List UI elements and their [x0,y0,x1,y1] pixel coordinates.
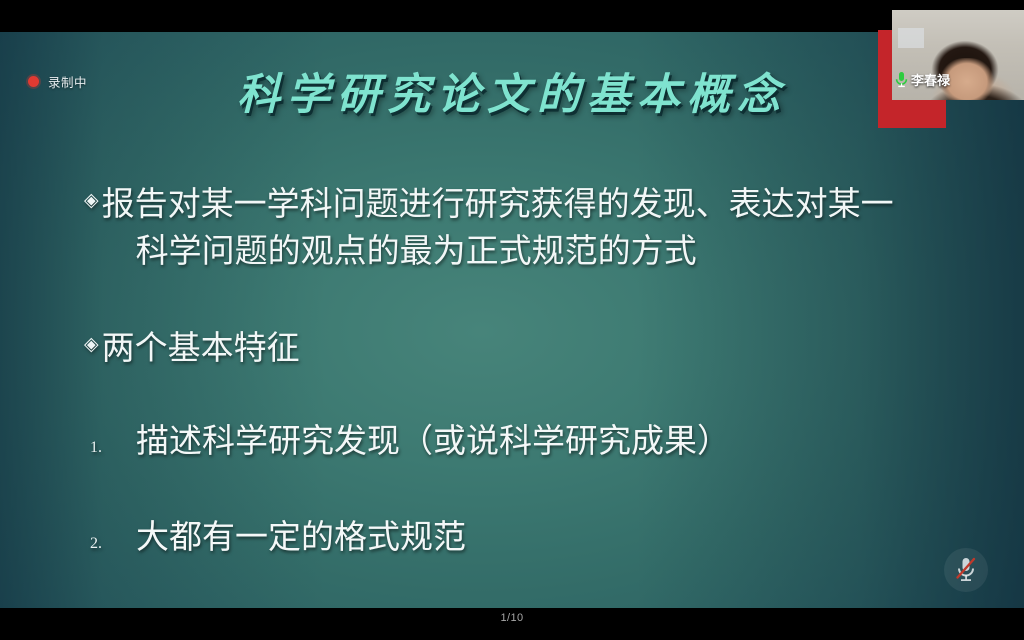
bullet-line-2: 科学问题的观点的最为正式规范的方式 [102,229,974,276]
recording-label: 录制中 [48,72,87,91]
numbered-item: 1. 描述科学研究发现（或说科学研究成果） [84,419,974,465]
recording-indicator: 录制中 [28,72,87,91]
bullet-line-1: 报告对某一学科问题进行研究获得的发现、表达对某一 [102,187,894,223]
slide-canvas: 科学研究论文的基本概念 ◈ 报告对某一学科问题进行研究获得的发现、表达对某一 科… [0,32,1024,608]
bullet-row: ◈ 两个基本特征 [84,326,974,373]
list-number: 1. [84,437,136,459]
bullet-text: 报告对某一学科问题进行研究获得的发现、表达对某一 科学问题的观点的最为正式规范的… [102,182,974,276]
participant-name-chip: 李春禄 [892,69,956,90]
recording-dot-icon [28,76,39,87]
bullet-row: ◈ 报告对某一学科问题进行研究获得的发现、表达对某一 科学问题的观点的最为正式规… [84,182,974,276]
slide-body: ◈ 报告对某一学科问题进行研究获得的发现、表达对某一 科学问题的观点的最为正式规… [84,182,974,567]
microphone-on-icon [895,71,908,88]
slide-content: 科学研究论文的基本概念 ◈ 报告对某一学科问题进行研究获得的发现、表达对某一 科… [0,32,1024,608]
microphone-muted-icon [953,555,979,585]
page-title: 科学研究论文的基本概念 [0,60,1024,122]
numbered-row: 2. 大都有一定的格式规范 [84,515,974,561]
bottom-letterbox-bar: 1/10 [0,608,1024,640]
video-background-object [898,28,924,48]
spacer [84,471,974,515]
bullet-item: ◈ 报告对某一学科问题进行研究获得的发现、表达对某一 科学问题的观点的最为正式规… [84,182,974,276]
bullet-item: ◈ 两个基本特征 [84,326,974,373]
participant-video-tile[interactable]: 李春禄 [892,10,1024,100]
spacer [84,282,974,326]
diamond-bullet-icon: ◈ [84,326,99,363]
numbered-text: 描述科学研究发现（或说科学研究成果） [136,419,730,465]
list-number: 2. [84,533,136,555]
microphone-mute-button[interactable] [944,548,988,592]
numbered-item: 2. 大都有一定的格式规范 [84,515,974,561]
participant-name: 李春禄 [911,70,950,89]
spacer [84,379,974,419]
top-letterbox-bar [0,0,1024,32]
diamond-bullet-icon: ◈ [84,182,99,219]
presentation-viewer: 科学研究论文的基本概念 ◈ 报告对某一学科问题进行研究获得的发现、表达对某一 科… [0,0,1024,640]
numbered-row: 1. 描述科学研究发现（或说科学研究成果） [84,419,974,465]
numbered-text: 大都有一定的格式规范 [136,515,466,561]
page-indicator: 1/10 [0,612,1024,624]
bullet-text: 两个基本特征 [102,326,974,373]
